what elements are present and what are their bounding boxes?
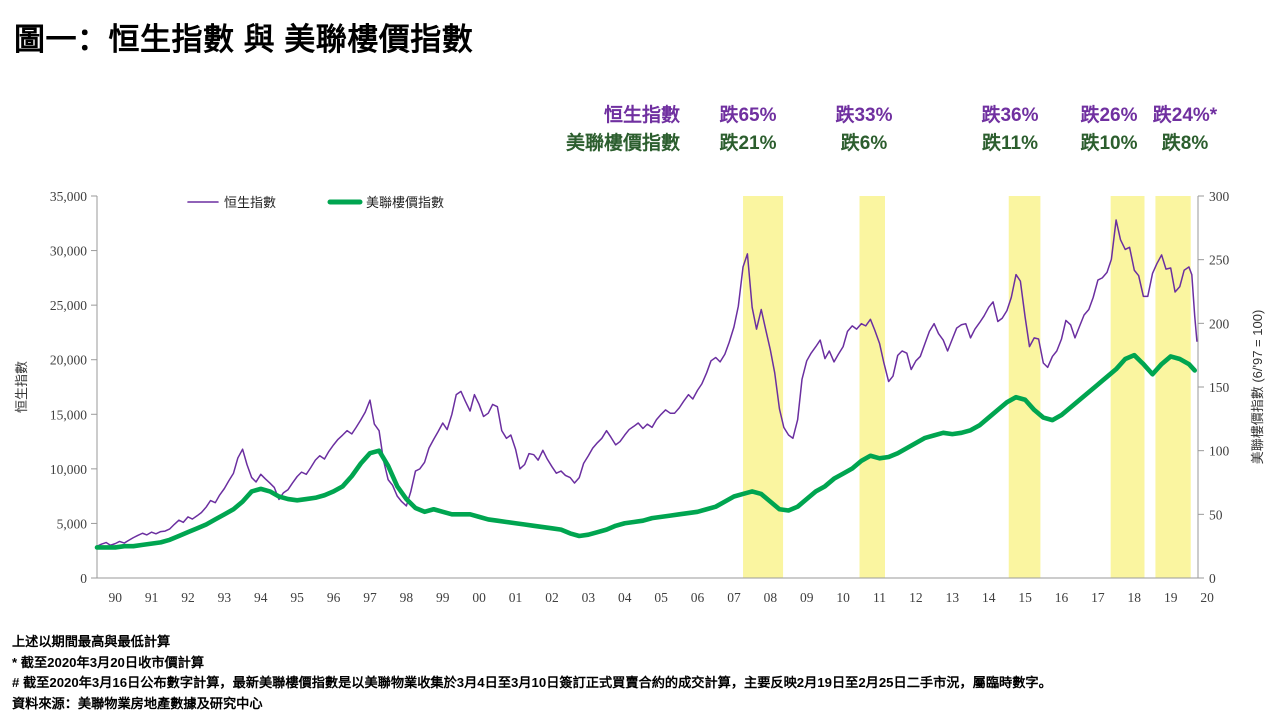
annotation-mid-5: 跌8% — [1125, 131, 1245, 157]
xtick-label-13: 13 — [946, 590, 960, 605]
xtick-label-93: 93 — [218, 590, 232, 605]
xtick-label-94: 94 — [254, 590, 268, 605]
xtick-label-99: 99 — [436, 590, 450, 605]
xtick-label-91: 91 — [145, 590, 159, 605]
ytick-left-label-0: 0 — [80, 571, 87, 586]
highlight-band-5 — [1155, 196, 1190, 578]
xtick-label-15: 15 — [1018, 590, 1032, 605]
annotation-hsi-5: 跌24%* — [1125, 103, 1245, 129]
xtick-label-08: 08 — [764, 590, 778, 605]
ytick-right-label-2: 100 — [1209, 444, 1230, 459]
chart-container: 05,00010,00015,00020,00025,00030,00035,0… — [0, 180, 1280, 610]
page-title: 圖一：恒生指數 與 美聯樓價指數 — [14, 14, 473, 59]
footnotes: 上述以期間最高與最低計算 * 截至2020年3月20日收市價計算 # 截至202… — [12, 632, 1280, 714]
xtick-label-95: 95 — [290, 590, 304, 605]
xtick-label-14: 14 — [982, 590, 996, 605]
ytick-right-label-4: 200 — [1209, 316, 1230, 331]
xtick-label-09: 09 — [800, 590, 814, 605]
footnote-line-4: 資料來源：美聯物業房地產數據及研究中心 — [12, 694, 1280, 715]
y-axis-title-left: 恒生指數 — [14, 361, 29, 413]
annotation-hsi-2: 跌33% — [804, 103, 924, 129]
y-axis-title-right: 美聯樓價指數 (6/'97 = 100) — [1250, 310, 1265, 465]
xtick-label-07: 07 — [727, 590, 741, 605]
ytick-right-label-0: 0 — [1209, 571, 1216, 586]
ytick-left-label-1: 5,000 — [57, 516, 88, 531]
highlight-band-2 — [860, 196, 885, 578]
axis-labels-layer: 05,00010,00015,00020,00025,00030,00035,0… — [14, 189, 1265, 605]
xtick-label-00: 00 — [472, 590, 486, 605]
annotation-row-hsi: 恒生指數 跌65% 跌33% 跌36% 跌26% 跌24%* — [0, 103, 1280, 131]
xtick-label-06: 06 — [691, 590, 705, 605]
chart-legend: 恒生指數美聯樓價指數 — [188, 195, 444, 210]
annotation-row-midland: 美聯樓價指數 跌21% 跌6% 跌11% 跌10% 跌8% — [0, 131, 1280, 159]
xtick-label-19: 19 — [1164, 590, 1178, 605]
annotation-label-hsi: 恒生指數 — [500, 103, 680, 129]
ytick-left-label-6: 30,000 — [50, 244, 87, 259]
annotation-label-midland: 美聯樓價指數 — [460, 131, 680, 157]
annotation-mid-2: 跌6% — [804, 131, 924, 157]
ytick-left-label-7: 35,000 — [50, 189, 87, 204]
xtick-label-17: 17 — [1091, 590, 1105, 605]
footnote-line-3: # 截至2020年3月16日公布數字計算，最新美聯樓價指數是以美聯物業收集於3月… — [12, 673, 1280, 694]
highlight-band-3 — [1009, 196, 1041, 578]
xtick-label-98: 98 — [400, 590, 414, 605]
legend-label-2: 美聯樓價指數 — [366, 195, 444, 210]
annotation-hsi-1: 跌65% — [688, 103, 808, 129]
footnote-line-1: 上述以期間最高與最低計算 — [12, 632, 1280, 653]
xtick-label-92: 92 — [181, 590, 195, 605]
xtick-label-04: 04 — [618, 590, 632, 605]
ytick-left-label-3: 15,000 — [50, 407, 87, 422]
annotation-mid-1: 跌21% — [688, 131, 808, 157]
xtick-label-02: 02 — [545, 590, 559, 605]
ytick-left-label-5: 25,000 — [50, 298, 87, 313]
ytick-right-label-1: 50 — [1209, 507, 1223, 522]
drop-annotations: 恒生指數 跌65% 跌33% 跌36% 跌26% 跌24%* 美聯樓價指數 跌2… — [0, 103, 1280, 163]
xtick-label-12: 12 — [909, 590, 923, 605]
xtick-label-11: 11 — [873, 590, 886, 605]
xtick-label-20: 20 — [1200, 590, 1214, 605]
footnote-line-2: * 截至2020年3月20日收市價計算 — [12, 653, 1280, 674]
highlight-band-4 — [1111, 196, 1145, 578]
xtick-label-16: 16 — [1055, 590, 1069, 605]
xtick-label-90: 90 — [108, 590, 122, 605]
highlight-bands-layer — [743, 196, 1191, 578]
xtick-label-18: 18 — [1128, 590, 1142, 605]
xtick-label-01: 01 — [509, 590, 523, 605]
xtick-label-03: 03 — [582, 590, 596, 605]
xtick-label-05: 05 — [654, 590, 668, 605]
ytick-left-label-4: 20,000 — [50, 353, 87, 368]
ytick-right-label-6: 300 — [1209, 189, 1230, 204]
ytick-left-label-2: 10,000 — [50, 462, 87, 477]
legend-label-1: 恒生指數 — [224, 195, 276, 210]
ytick-right-label-3: 150 — [1209, 380, 1230, 395]
xtick-label-97: 97 — [363, 590, 377, 605]
dual-axis-line-chart: 05,00010,00015,00020,00025,00030,00035,0… — [0, 180, 1280, 610]
xtick-label-96: 96 — [327, 590, 341, 605]
ytick-right-label-5: 250 — [1209, 253, 1230, 268]
xtick-label-10: 10 — [836, 590, 850, 605]
